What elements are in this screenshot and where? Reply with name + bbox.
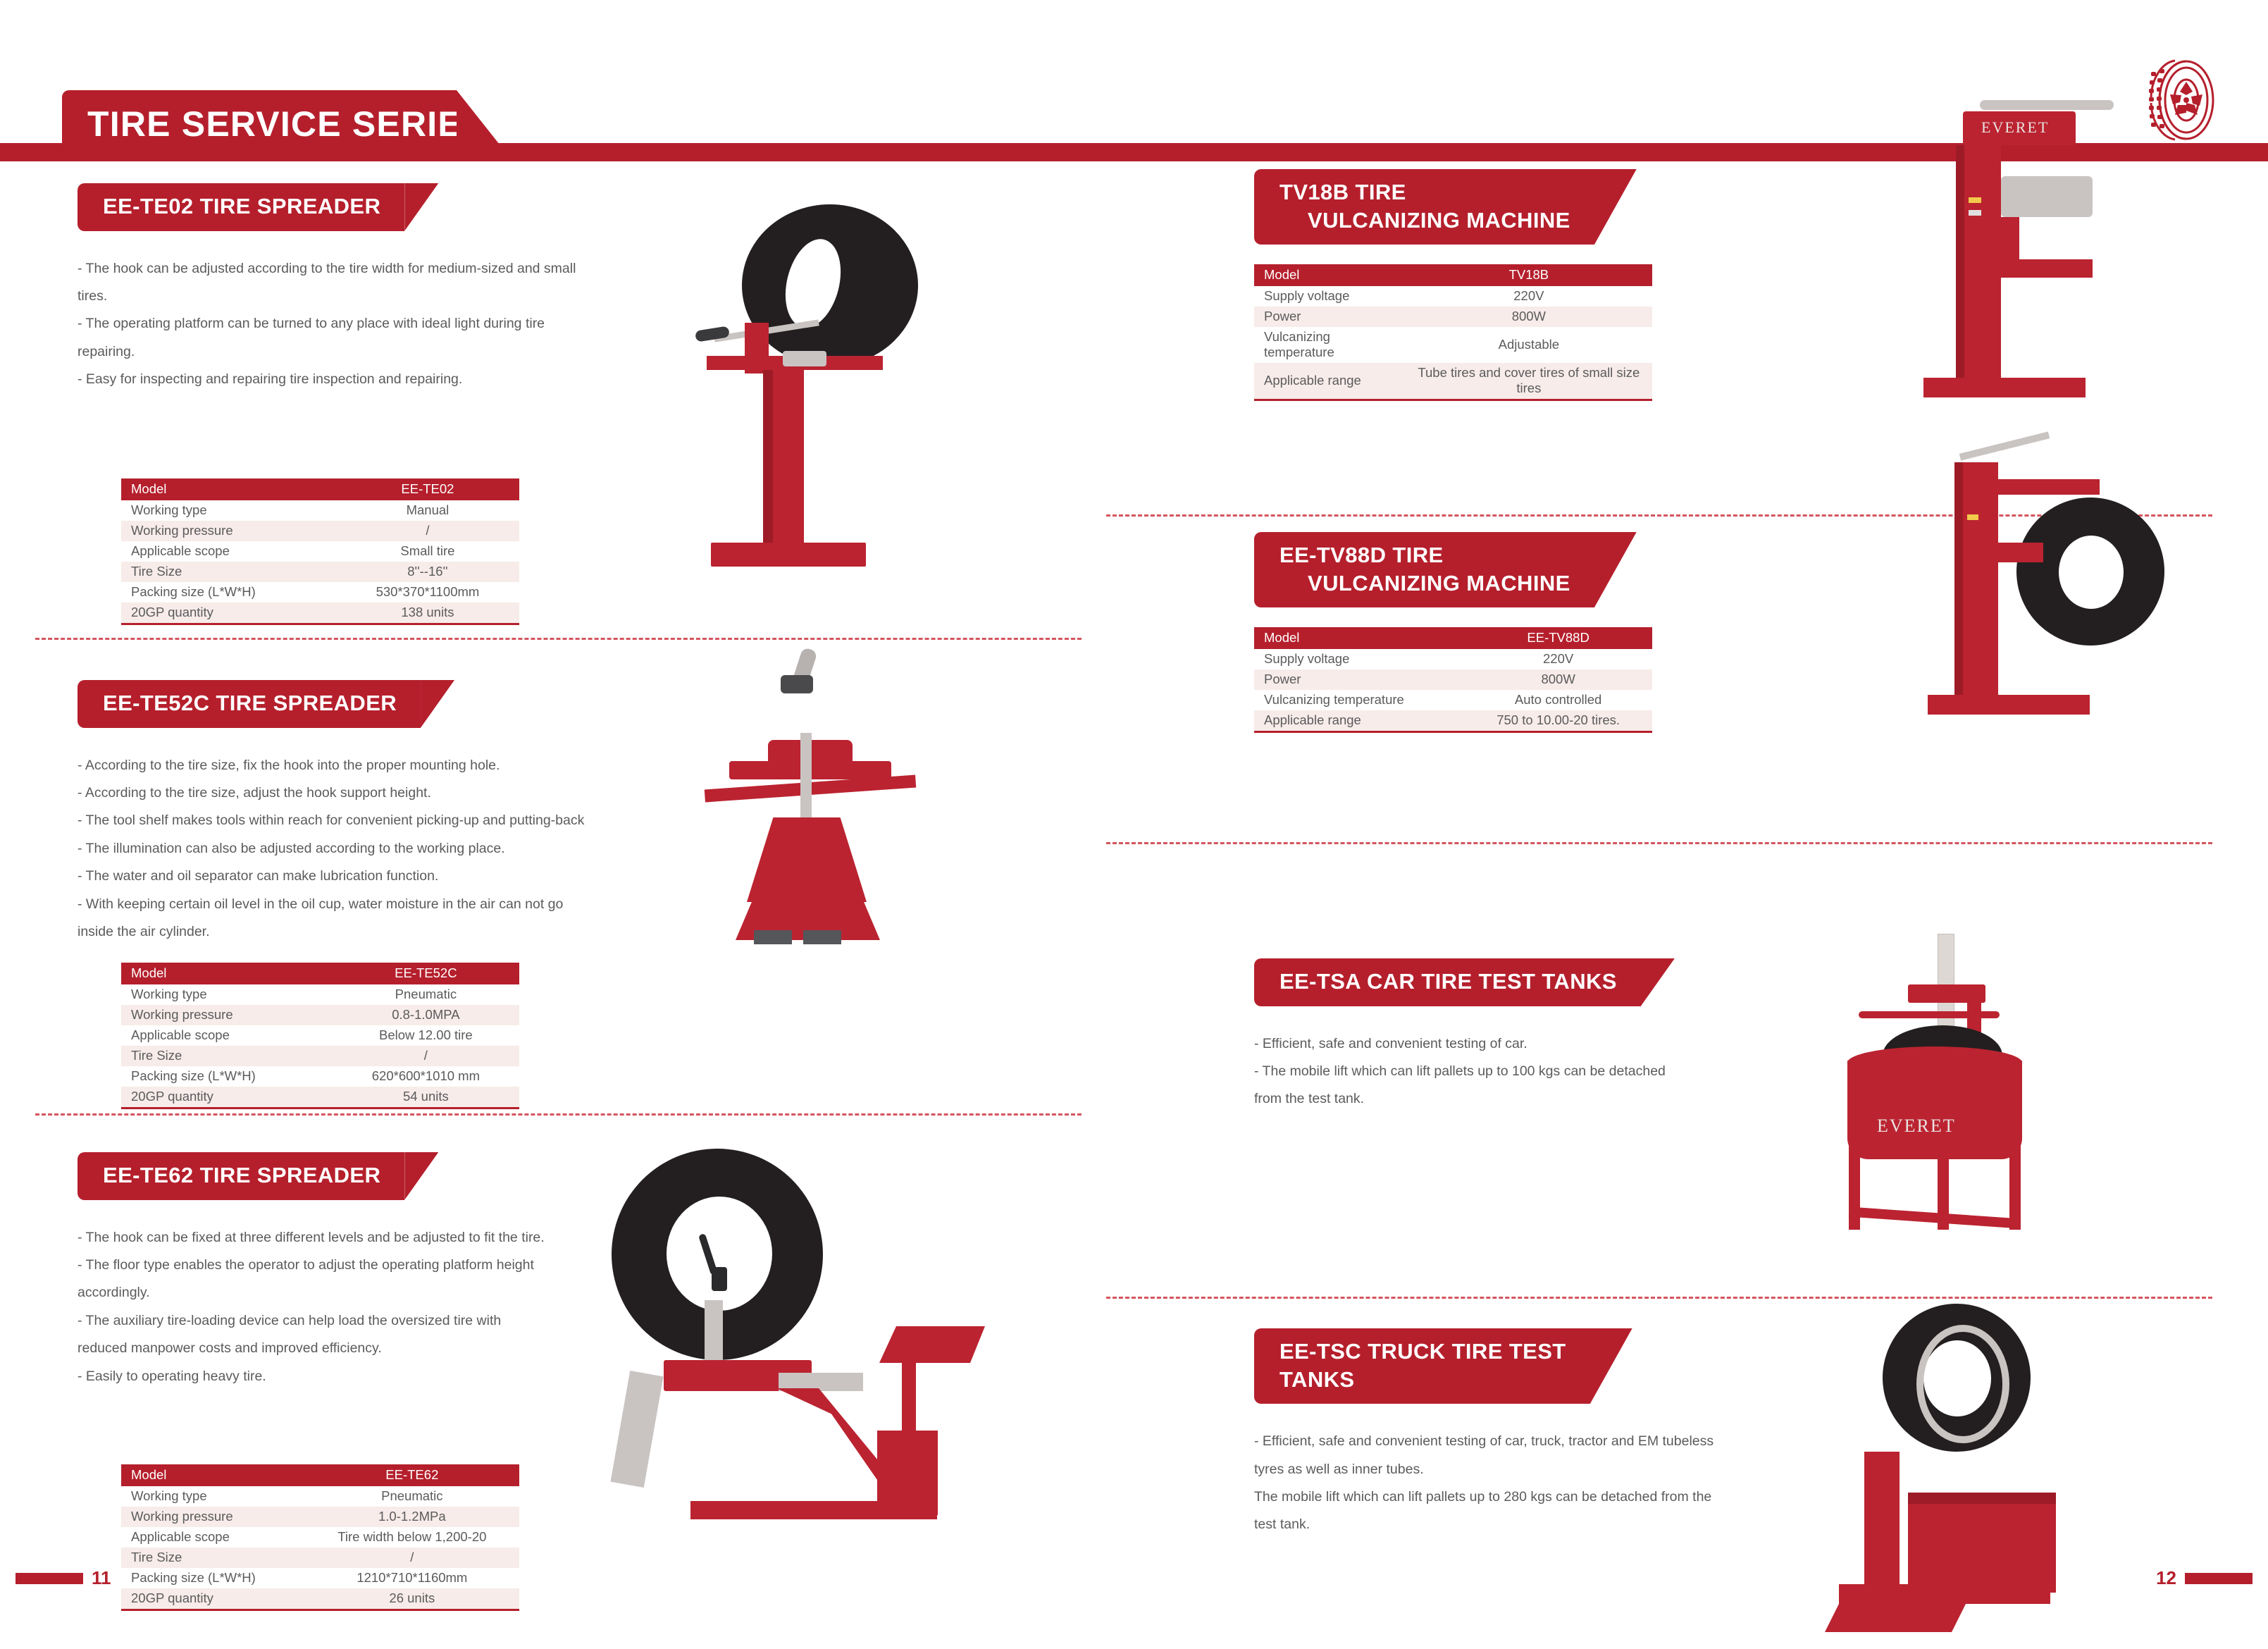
product-title-text: TV18B TIRE VULCANIZING MACHINE <box>1254 169 1594 245</box>
product-feature-list: - According to the tire size, fix the ho… <box>78 752 599 946</box>
product-feature-list: - The hook can be adjusted according to … <box>78 255 599 394</box>
list-item: - The tool shelf makes tools within reac… <box>78 807 599 834</box>
list-item: test tank. <box>1254 1511 1747 1538</box>
product-title-line2: VULCANIZING MACHINE <box>1279 206 1570 235</box>
section-divider <box>1106 842 2212 844</box>
table-row: Packing size (L*W*H) 620*600*1010 mm <box>121 1066 519 1087</box>
spec-label: Working type <box>121 984 333 1005</box>
product-feature-list: - Efficient, safe and convenient testing… <box>1254 1030 1747 1113</box>
list-item: - The hook can be fixed at three differe… <box>78 1224 599 1252</box>
right-page-column: TV18B TIRE VULCANIZING MACHINE Model TV1… <box>1191 183 2268 1522</box>
spec-label: Model <box>121 1464 305 1486</box>
table-row: Tire Size / <box>121 1548 519 1568</box>
page-title: TIRE SERVICE SERIES <box>87 90 486 158</box>
spec-value: EE-TE52C <box>333 963 519 984</box>
table-row: 20GP quantity 54 units <box>121 1087 519 1108</box>
title-slant-decoration <box>1594 169 1637 245</box>
product-title-text: EE-TSC TRUCK TIRE TEST TANKS <box>1254 1328 1590 1404</box>
list-item: - Efficient, safe and convenient testing… <box>1254 1428 1747 1455</box>
list-item: - With keeping certain oil level in the … <box>78 891 599 918</box>
table-row: Model EE-TE52C <box>121 963 519 984</box>
product-ee-tsc: EE-TSC TRUCK TIRE TEST TANKS - Efficient… <box>1254 1328 1747 1539</box>
spec-value: 220V <box>1464 649 1652 669</box>
product-photo-ee-te62 <box>599 1149 1036 1529</box>
spec-value: 800W <box>1406 307 1652 327</box>
spec-table-ee-tv88d: Model EE-TV88D Supply voltage 220V Power… <box>1254 627 1652 733</box>
spec-value: 26 units <box>305 1588 519 1610</box>
list-item: - Efficient, safe and convenient testing… <box>1254 1030 1747 1058</box>
table-row: 20GP quantity 138 units <box>121 603 519 624</box>
title-slant-decoration <box>1641 958 1675 1006</box>
spec-label: 20GP quantity <box>121 1087 333 1108</box>
spec-label: Model <box>1254 627 1464 649</box>
footer-rule <box>2185 1573 2252 1584</box>
spec-value: / <box>305 1548 519 1568</box>
table-row: Applicable range Tube tires and cover ti… <box>1254 363 1652 400</box>
table-row: Model TV18B <box>1254 264 1652 286</box>
spec-value: Tire width below 1,200-20 <box>305 1527 519 1548</box>
spec-label: Model <box>1254 264 1406 286</box>
page-number: 12 <box>2148 1567 2185 1589</box>
spec-value: Adjustable <box>1406 327 1652 363</box>
product-ee-tsa: EE-TSA CAR TIRE TEST TANKS - Efficient, … <box>1254 958 1747 1113</box>
table-row: Model EE-TE02 <box>121 478 519 500</box>
spec-label: Applicable range <box>1254 710 1464 732</box>
table-row: Working pressure / <box>121 521 519 541</box>
spec-value: 8''--16'' <box>336 562 519 582</box>
list-item: accordingly. <box>78 1279 599 1307</box>
table-row: Working type Pneumatic <box>121 1486 519 1507</box>
banner-slant-decoration <box>457 90 510 158</box>
product-title-banner: EE-TE02 TIRE SPREADER <box>78 183 404 231</box>
footer-right: 12 <box>2148 1567 2252 1588</box>
spec-label: Working type <box>121 1486 305 1507</box>
product-feature-list: - Efficient, safe and convenient testing… <box>1254 1428 1747 1539</box>
machine-brand-label: EVERET <box>1981 118 2049 137</box>
spec-label: Packing size (L*W*H) <box>121 1568 305 1588</box>
left-page-column: EE-TE02 TIRE SPREADER - The hook can be … <box>42 183 1141 1522</box>
list-item: - The water and oil separator can make l… <box>78 863 599 890</box>
spec-label: Tire Size <box>121 1548 305 1568</box>
spec-value: EE-TV88D <box>1464 627 1652 649</box>
spec-label: 20GP quantity <box>121 603 336 624</box>
spec-value: 750 to 10.00-20 tires. <box>1464 710 1652 732</box>
table-row: Supply voltage 220V <box>1254 286 1652 307</box>
table-row: Model EE-TV88D <box>1254 627 1652 649</box>
table-row: Working type Manual <box>121 500 519 521</box>
product-ee-te52c: EE-TE52C TIRE SPREADER - According to th… <box>78 680 599 1109</box>
list-item: - The operating platform can be turned t… <box>78 310 599 366</box>
spec-value: 1.0-1.2MPa <box>305 1507 519 1527</box>
spec-label: Supply voltage <box>1254 649 1464 669</box>
spec-label: Vulcanizing temperature <box>1254 327 1406 363</box>
product-title-banner: EE-TV88D TIRE VULCANIZING MACHINE <box>1254 532 1594 607</box>
product-ee-tv88d: EE-TV88D TIRE VULCANIZING MACHINE Model … <box>1254 532 1691 733</box>
spec-value: / <box>336 521 519 541</box>
list-item: - According to the tire size, adjust the… <box>78 779 599 807</box>
list-item: - Easily to operating heavy tire. <box>78 1363 599 1390</box>
spec-label: Power <box>1254 307 1406 327</box>
spec-label: Applicable scope <box>121 541 336 562</box>
product-title-banner: EE-TE52C TIRE SPREADER <box>78 680 421 728</box>
section-divider <box>35 638 1082 640</box>
spec-value: Small tire <box>336 541 519 562</box>
spec-label: Working type <box>121 500 336 521</box>
product-title-banner: EE-TE62 TIRE SPREADER <box>78 1152 404 1200</box>
spec-value: 220V <box>1406 286 1652 307</box>
product-title-text: EE-TE02 TIRE SPREADER <box>78 183 404 231</box>
spec-label: Vulcanizing temperature <box>1254 690 1464 710</box>
spec-label: Applicable range <box>1254 363 1406 400</box>
footer-left: 11 <box>16 1567 120 1588</box>
list-item: tyres as well as inner tubes. <box>1254 1456 1747 1483</box>
table-row: Packing size (L*W*H) 530*370*1100mm <box>121 582 519 603</box>
product-title-line2: VULCANIZING MACHINE <box>1279 569 1570 598</box>
list-item: - The hook can be adjusted according to … <box>78 255 599 311</box>
spec-value: EE-TE62 <box>305 1464 519 1486</box>
spec-label: Packing size (L*W*H) <box>121 1066 333 1087</box>
spec-label: 20GP quantity <box>121 1588 305 1610</box>
product-title-line1: EE-TSC TRUCK TIRE TEST <box>1279 1339 1566 1364</box>
spec-label: Model <box>121 478 336 500</box>
list-item: from the test tank. <box>1254 1085 1747 1113</box>
table-row: Model EE-TE62 <box>121 1464 519 1486</box>
list-item: The mobile lift which can lift pallets u… <box>1254 1483 1747 1511</box>
spec-value: Manual <box>336 500 519 521</box>
spec-label: Tire Size <box>121 1046 333 1066</box>
section-header-banner: TIRE SERVICE SERIES <box>62 90 457 158</box>
spec-label: Model <box>121 963 333 984</box>
product-photo-ee-tv88d <box>1888 437 2205 803</box>
product-tv18b: TV18B TIRE VULCANIZING MACHINE Model TV1… <box>1254 169 1691 401</box>
table-row: Working pressure 0.8-1.0MPA <box>121 1005 519 1025</box>
product-photo-ee-te02 <box>680 204 976 599</box>
spec-value: 138 units <box>336 603 519 624</box>
product-title-banner: EE-TSA CAR TIRE TEST TANKS <box>1254 958 1641 1006</box>
product-title-text: EE-TE52C TIRE SPREADER <box>78 680 421 728</box>
title-slant-decoration <box>1594 532 1637 607</box>
product-title-line2: TANKS <box>1279 1366 1566 1394</box>
product-ee-te62: EE-TE62 TIRE SPREADER - The hook can be … <box>78 1152 599 1611</box>
product-feature-list: - The hook can be fixed at three differe… <box>78 1224 599 1390</box>
section-divider <box>35 1113 1082 1116</box>
table-row: 20GP quantity 26 units <box>121 1588 519 1610</box>
spec-value: EE-TE02 <box>336 478 519 500</box>
spec-table-ee-te62: Model EE-TE62 Working type Pneumatic Wor… <box>121 1464 519 1611</box>
spec-label: Power <box>1254 669 1464 690</box>
spec-label: Packing size (L*W*H) <box>121 582 336 603</box>
product-photo-ee-tsa: EVERET <box>1804 934 2086 1251</box>
table-row: Supply voltage 220V <box>1254 649 1652 669</box>
table-row: Applicable scope Small tire <box>121 541 519 562</box>
table-row: Applicable range 750 to 10.00-20 tires. <box>1254 710 1652 732</box>
spec-value: / <box>333 1046 519 1066</box>
spec-value: 1210*710*1160mm <box>305 1568 519 1588</box>
list-item: - The auxiliary tire-loading device can … <box>78 1307 599 1335</box>
table-row: Packing size (L*W*H) 1210*710*1160mm <box>121 1568 519 1588</box>
spec-value: Pneumatic <box>333 984 519 1005</box>
spec-label: Working pressure <box>121 1005 333 1025</box>
product-photo-ee-te52c <box>662 648 972 1085</box>
spec-value: TV18B <box>1406 264 1652 286</box>
spec-value: 800W <box>1464 669 1652 690</box>
product-photo-ee-tsc <box>1797 1297 2107 1649</box>
spec-label: Supply voltage <box>1254 286 1406 307</box>
spec-value: Below 12.00 tire <box>333 1025 519 1046</box>
list-item: - The mobile lift which can lift pallets… <box>1254 1058 1747 1085</box>
title-slant-decoration <box>421 680 454 728</box>
list-item: inside the air cylinder. <box>78 918 599 946</box>
title-slant-decoration <box>1590 1328 1632 1404</box>
list-item: reduced manpower costs and improved effi… <box>78 1335 599 1362</box>
title-slant-decoration <box>404 183 438 231</box>
spec-table-ee-te52c: Model EE-TE52C Working type Pneumatic Wo… <box>121 963 519 1109</box>
spec-value: Pneumatic <box>305 1486 519 1507</box>
spec-table-tv18b: Model TV18B Supply voltage 220V Power 80… <box>1254 264 1652 401</box>
title-slant-decoration <box>404 1152 438 1200</box>
product-ee-te02: EE-TE02 TIRE SPREADER - The hook can be … <box>78 183 599 625</box>
product-title-text: EE-TE62 TIRE SPREADER <box>78 1152 404 1200</box>
table-row: Working pressure 1.0-1.2MPa <box>121 1507 519 1527</box>
product-title-line1: EE-TV88D TIRE <box>1279 543 1444 567</box>
table-row: Tire Size 8''--16'' <box>121 562 519 582</box>
table-row: Tire Size / <box>121 1046 519 1066</box>
spec-value: 0.8-1.0MPA <box>333 1005 519 1025</box>
spec-label: Applicable scope <box>121 1527 305 1548</box>
table-row: Applicable scope Tire width below 1,200-… <box>121 1527 519 1548</box>
table-row: Applicable scope Below 12.00 tire <box>121 1025 519 1046</box>
table-row: Working type Pneumatic <box>121 984 519 1005</box>
table-row: Vulcanizing temperature Adjustable <box>1254 327 1652 363</box>
product-title-banner: TV18B TIRE VULCANIZING MACHINE <box>1254 169 1594 245</box>
list-item: - According to the tire size, fix the ho… <box>78 752 599 779</box>
table-row: Vulcanizing temperature Auto controlled <box>1254 690 1652 710</box>
spec-value: 530*370*1100mm <box>336 582 519 603</box>
machine-brand-label: EVERET <box>1877 1116 1956 1137</box>
spec-value: Auto controlled <box>1464 690 1652 710</box>
product-title-banner: EE-TSC TRUCK TIRE TEST TANKS <box>1254 1328 1590 1404</box>
spec-label: Tire Size <box>121 562 336 582</box>
table-row: Power 800W <box>1254 307 1652 327</box>
list-item: - The floor type enables the operator to… <box>78 1252 599 1279</box>
list-item: - The illumination can also be adjusted … <box>78 835 599 863</box>
spec-label: Working pressure <box>121 521 336 541</box>
list-item: - Easy for inspecting and repairing tire… <box>78 366 599 393</box>
product-photo-tv18b: EVERET <box>1895 92 2191 451</box>
footer-rule <box>16 1573 83 1584</box>
spec-table-ee-te02: Model EE-TE02 Working type Manual Workin… <box>121 478 519 625</box>
spec-label: Working pressure <box>121 1507 305 1527</box>
product-title-text: EE-TV88D TIRE VULCANIZING MACHINE <box>1254 532 1594 607</box>
product-title-line1: TV18B TIRE <box>1279 180 1406 204</box>
spec-value: Tube tires and cover tires of small size… <box>1406 363 1652 400</box>
spec-label: Applicable scope <box>121 1025 333 1046</box>
product-title-text: EE-TSA CAR TIRE TEST TANKS <box>1254 958 1641 1006</box>
page-number: 11 <box>83 1567 120 1589</box>
table-row: Power 800W <box>1254 669 1652 690</box>
spec-value: 54 units <box>333 1087 519 1108</box>
spec-value: 620*600*1010 mm <box>333 1066 519 1087</box>
